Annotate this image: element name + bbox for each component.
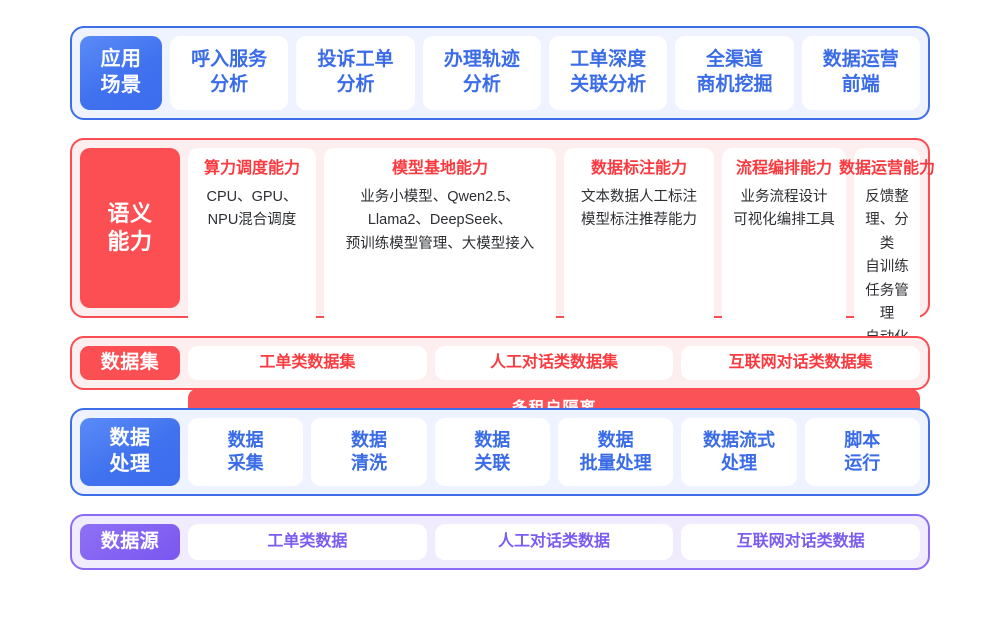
scenario-card-ticket-deep-correlation-analysis[interactable]: 工单深度 关联分析 [549, 36, 667, 110]
scenario-card-handling-trace-analysis[interactable]: 办理轨迹 分析 [423, 36, 541, 110]
layer-label-data-source: 数据源 [80, 524, 180, 560]
capability-body: 业务小模型、Qwen2.5、 Llama2、DeepSeek、 预训练模型管理、… [346, 186, 535, 256]
layer-dataset: 数据集 工单类数据集 人工对话类数据集 互联网对话类数据集 [70, 336, 930, 390]
layer-label-semantic-capability: 语义 能力 [80, 148, 180, 308]
source-card-internet-dialogue-data[interactable]: 互联网对话类数据 [681, 524, 920, 560]
capability-title: 数据运营能力 [839, 158, 935, 180]
source-card-ticket-data[interactable]: 工单类数据 [188, 524, 427, 560]
layer-semantic-capability: 语义 能力 算力调度能力 CPU、GPU、 NPU混合调度 模型基地能力 业务小… [70, 138, 930, 318]
capability-body: CPU、GPU、 NPU混合调度 [206, 186, 297, 233]
scenario-card-omnichannel-opportunity-mining[interactable]: 全渠道 商机挖掘 [675, 36, 793, 110]
layer-label-data-processing: 数据 处理 [80, 418, 180, 486]
processing-card-script-execution[interactable]: 脚本 运行 [805, 418, 920, 486]
row-gap [70, 120, 930, 138]
layer-data-processing: 数据 处理 数据 采集 数据 清洗 数据 关联 数据 批量处理 数据流式 处理 … [70, 408, 930, 496]
layer-data-source: 数据源 工单类数据 人工对话类数据 互联网对话类数据 [70, 514, 930, 570]
dataset-card-internet-dialogue[interactable]: 互联网对话类数据集 [681, 346, 920, 380]
capability-title: 数据标注能力 [591, 158, 687, 180]
processing-card-data-correlation[interactable]: 数据 关联 [435, 418, 550, 486]
scenario-card-complaint-ticket-analysis[interactable]: 投诉工单 分析 [296, 36, 414, 110]
semantic-capability-content: 算力调度能力 CPU、GPU、 NPU混合调度 模型基地能力 业务小模型、Qwe… [188, 148, 920, 308]
capability-title: 流程编排能力 [736, 158, 832, 180]
capability-body: 业务流程设计 可视化编排工具 [733, 186, 835, 233]
architecture-diagram: 应用 场景 呼入服务 分析 投诉工单 分析 办理轨迹 分析 工单深度 关联分析 … [0, 0, 1000, 620]
processing-card-data-stream-processing[interactable]: 数据流式 处理 [681, 418, 796, 486]
capability-body: 文本数据人工标注 模型标注推荐能力 [581, 186, 697, 233]
scenario-card-inbound-service-analysis[interactable]: 呼入服务 分析 [170, 36, 288, 110]
processing-card-data-cleaning[interactable]: 数据 清洗 [311, 418, 426, 486]
row-gap [70, 496, 930, 514]
processing-card-data-batch-processing[interactable]: 数据 批量处理 [558, 418, 673, 486]
row-gap [70, 318, 930, 336]
dataset-card-human-dialogue[interactable]: 人工对话类数据集 [435, 346, 674, 380]
dataset-card-ticket[interactable]: 工单类数据集 [188, 346, 427, 380]
capability-title: 模型基地能力 [392, 158, 488, 180]
processing-card-data-collection[interactable]: 数据 采集 [188, 418, 303, 486]
source-card-human-dialogue-data[interactable]: 人工对话类数据 [435, 524, 674, 560]
row-gap [70, 390, 930, 408]
layer-label-dataset: 数据集 [80, 346, 180, 380]
layer-label-application-scenarios: 应用 场景 [80, 36, 162, 110]
scenario-card-data-operations-frontend[interactable]: 数据运营 前端 [802, 36, 920, 110]
capability-title: 算力调度能力 [204, 158, 300, 180]
layer-application-scenarios: 应用 场景 呼入服务 分析 投诉工单 分析 办理轨迹 分析 工单深度 关联分析 … [70, 26, 930, 120]
